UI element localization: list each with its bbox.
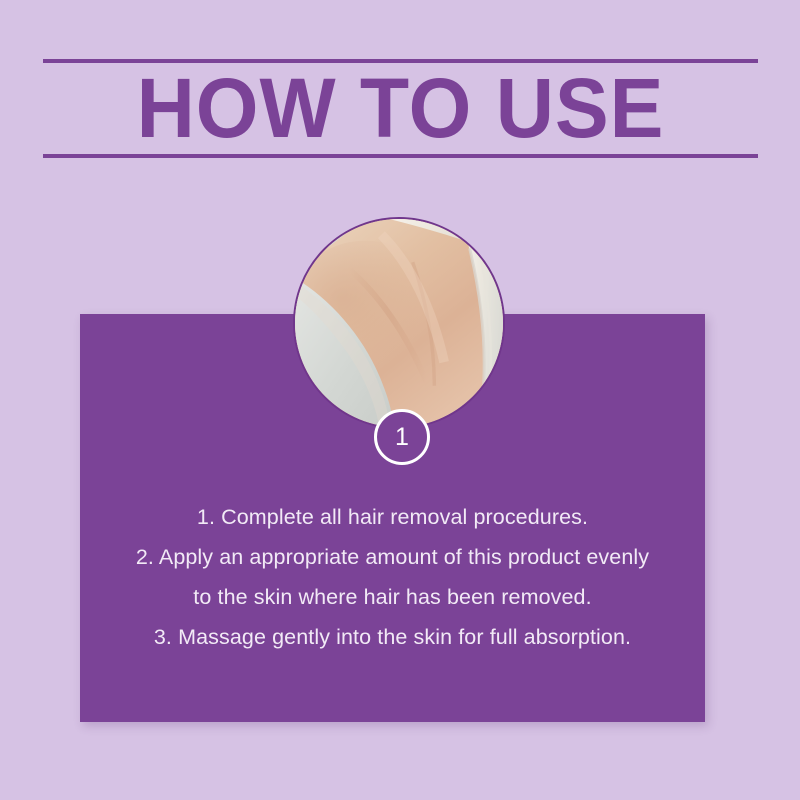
header: HOW TO USE <box>43 56 758 161</box>
photo-illustration <box>295 219 503 427</box>
title-rule-bottom <box>43 154 758 158</box>
instruction-line: 3. Massage gently into the skin for full… <box>80 617 705 657</box>
step-number-badge: 1 <box>374 409 430 465</box>
instructions-list: 1. Complete all hair removal procedures.… <box>80 497 705 657</box>
skin-underarm-photo <box>293 217 505 429</box>
instruction-line: to the skin where hair has been removed. <box>80 577 705 617</box>
how-to-use-poster: HOW TO USE <box>0 0 800 800</box>
instruction-line: 2. Apply an appropriate amount of this p… <box>80 537 705 577</box>
page-title: HOW TO USE <box>57 62 743 154</box>
instruction-line: 1. Complete all hair removal procedures. <box>80 497 705 537</box>
